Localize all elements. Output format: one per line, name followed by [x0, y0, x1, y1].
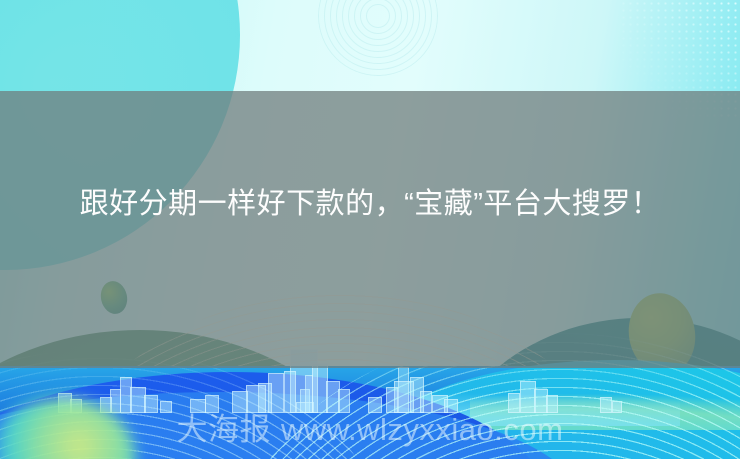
watermark: 大海报www.wlzyxxiao.com	[0, 404, 740, 449]
watermark-brand: 大海报	[177, 412, 272, 447]
dim-overlay	[0, 91, 740, 368]
poster-canvas: 跟好分期一样好下款的，“宝藏”平台大搜罗！ 大海报www.wlzyxxiao.c…	[0, 0, 740, 459]
page-title: 跟好分期一样好下款的，“宝藏”平台大搜罗！	[0, 183, 740, 226]
watermark-url: www.wlzyxxiao.com	[281, 412, 563, 447]
